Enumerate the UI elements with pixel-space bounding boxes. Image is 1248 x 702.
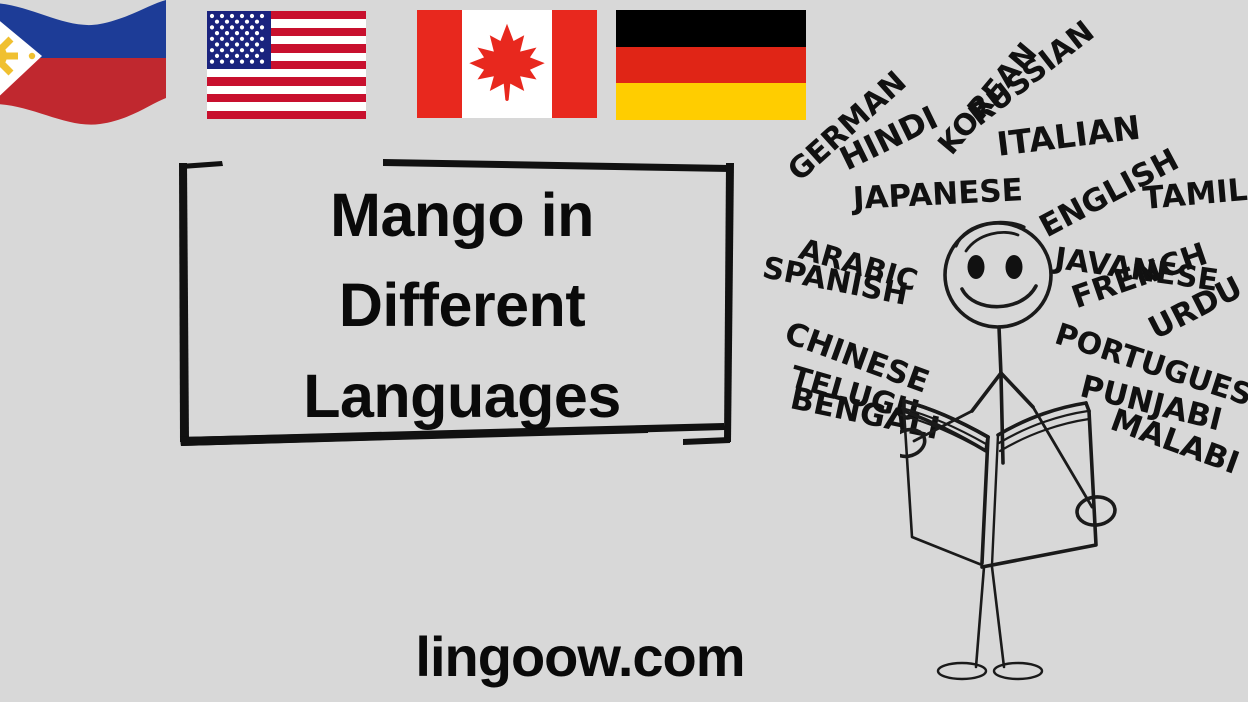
poster-canvas: Mango in Different Languages GERMANHINDI…	[0, 0, 1248, 702]
language-word: ITALIAN	[995, 108, 1143, 164]
site-url-text: lingoow.com	[0, 624, 1160, 689]
language-word: JAPANESE	[852, 173, 1024, 218]
language-word: TAMIL	[1141, 172, 1248, 217]
